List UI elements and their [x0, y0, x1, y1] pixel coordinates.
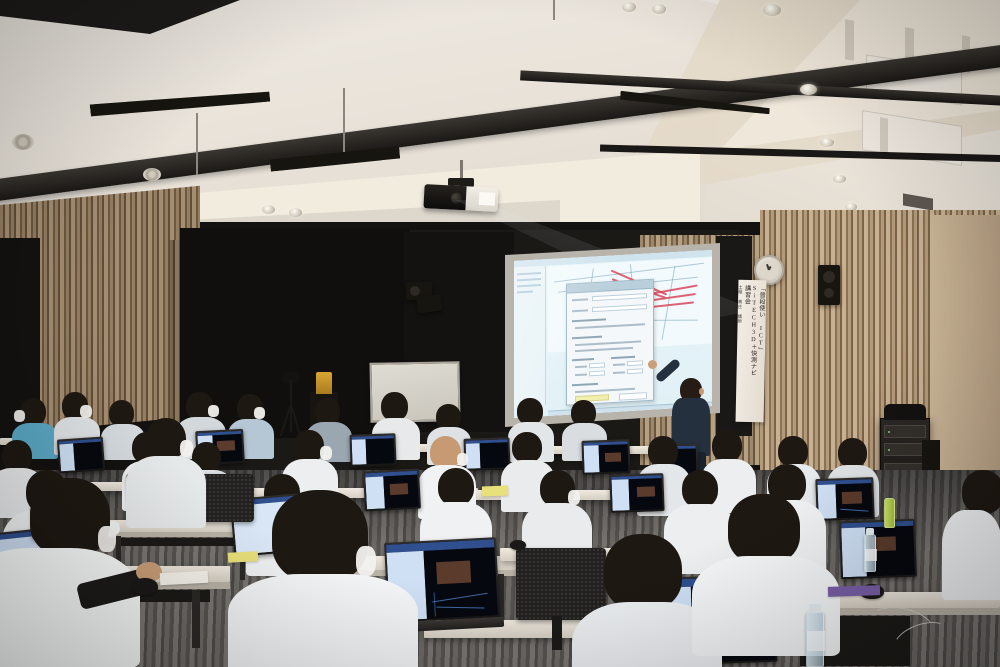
lecture-room-photo: 「普段使い ICT」 SiTECH3D＋快測ナビ 講習会 土屋 貴庄 講師: [0, 0, 1000, 667]
handout-yellow: [482, 486, 508, 497]
mousepad: [828, 585, 880, 597]
downlight-5: [763, 4, 781, 16]
beam-hanger-rod-3: [553, 0, 555, 20]
rack-top-monitor: [884, 404, 926, 420]
vertical-seminar-banner: 「普段使い ICT」 SiTECH3D＋快測ナビ 講習会 土屋 貴庄 講師: [736, 280, 767, 423]
downlight-8: [833, 175, 846, 183]
desk-leg: [192, 590, 200, 648]
beam-hanger-rod-1: [196, 113, 198, 175]
ceiling-slot-1: [845, 19, 854, 61]
downlight-12: [652, 4, 666, 14]
downlight-11: [622, 2, 636, 12]
paper-1: [160, 571, 209, 585]
downlight-2: [289, 208, 302, 217]
handout-yellow-2: [228, 551, 258, 563]
downlight-6: [800, 84, 817, 95]
ceiling-vent-1: [12, 134, 34, 150]
ceiling-projector: [423, 184, 498, 212]
water-bottle-1[interactable]: [864, 534, 876, 572]
speaker-cone-icon: [823, 271, 835, 283]
banner-line-1: 「普段使い ICT」: [755, 285, 764, 417]
chair-post: [552, 616, 562, 650]
downlight-1: [262, 205, 275, 214]
projector-lens-icon: [423, 184, 466, 210]
lectern-top-lamp: [316, 372, 332, 394]
wall-speaker-left-2: [416, 294, 442, 313]
clock-face: [759, 260, 779, 280]
downlight-7: [820, 138, 834, 147]
speaker-cone-icon: [410, 286, 420, 296]
rack-unit-2: [884, 443, 926, 456]
mouse-1[interactable]: [132, 578, 158, 595]
wall-speaker-right: [818, 265, 840, 305]
beam-hanger-rod-2: [343, 88, 345, 152]
bottle-cap-1: [866, 528, 874, 535]
ceiling-vent-2: [143, 168, 161, 181]
chair-2[interactable]: [516, 548, 606, 620]
water-bottle-2[interactable]: [806, 612, 824, 667]
projector-label: [479, 192, 496, 206]
ceiling-slot-4: [880, 117, 888, 152]
speaker-cone-icon-2: [824, 288, 834, 298]
mouse-3[interactable]: [510, 540, 526, 550]
bottle-cap-2: [809, 604, 821, 613]
rack-unit-1: [884, 425, 926, 438]
drink-bottle-green[interactable]: [884, 498, 895, 528]
